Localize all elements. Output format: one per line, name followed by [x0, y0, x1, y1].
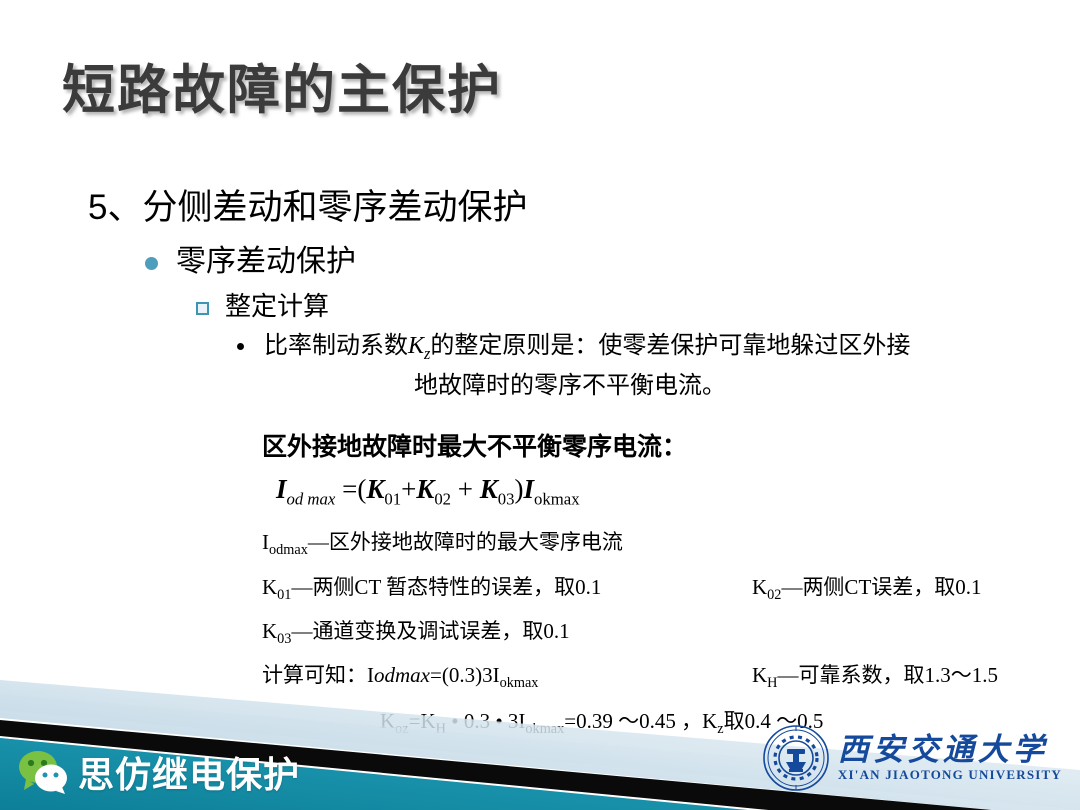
formula-k03: K03	[480, 474, 515, 504]
formula-k01: K01	[366, 474, 401, 504]
outline-level2: 零序差动保护	[145, 242, 1080, 282]
university-logo: 西安交通大学 XI'AN JIAOTONG UNIVERSITY	[762, 722, 1062, 794]
note-calc-right: KH—可靠系数，取1.3～1.5	[752, 663, 1052, 695]
note-iodmax: Iodmax—区外接地故障时的最大零序电流	[262, 530, 1052, 562]
bullet-square-icon	[196, 302, 209, 315]
math-heading: 区外接地故障时最大不平衡零序电流：	[262, 432, 1052, 464]
bullet-small-dot-icon	[237, 343, 244, 350]
university-seal-icon	[762, 724, 830, 792]
formula-equals: =	[342, 474, 357, 504]
note-row-k03: K03—通道变换及调试误差，取0.1	[262, 619, 1052, 651]
math-block: 区外接地故障时最大不平衡零序电流： Iod max =(K01+K02 + K0…	[262, 432, 1052, 741]
outline-level2-label: 零序差动保护	[176, 242, 1080, 282]
level4-prefix: 比率制动系数	[264, 333, 408, 359]
formula-plus2: +	[458, 474, 473, 504]
formula-k02: K02	[416, 474, 451, 504]
formula-close-paren: )	[515, 474, 524, 504]
formula-plus1: +	[401, 474, 416, 504]
watermark: 思仿继电保护	[18, 744, 300, 800]
university-names: 西安交通大学 XI'AN JIAOTONG UNIVERSITY	[838, 733, 1062, 783]
outline-level4-label: 比率制动系数Kz的整定原则是：使零差保护可靠地躲过区外接 地故障时的零序不平衡电…	[264, 330, 994, 403]
note-row-calc: 计算可知：Iodmax=(0.3)3Iokmax KH—可靠系数，取1.3～1.…	[262, 663, 1052, 695]
wechat-icon	[18, 750, 70, 794]
page-title: 短路故障的主保护	[62, 48, 502, 124]
university-name-cn: 西安交通大学	[838, 733, 1062, 767]
formula-rhs: Iokmax	[524, 474, 580, 504]
outline-level4: 比率制动系数Kz的整定原则是：使零差保护可靠地躲过区外接 地故障时的零序不平衡电…	[237, 330, 1080, 403]
level4-line1-rest: 的整定原则是：使零差保护可靠地躲过区外接	[430, 333, 910, 359]
note-calc-left: 计算可知：Iodmax=(0.3)3Iokmax	[262, 663, 752, 695]
outline-level1: 5、分侧差动和零序差动保护	[88, 186, 1080, 230]
note-k01: K01—两侧CT 暂态特性的误差，取0.1	[262, 575, 752, 607]
level4-variable: Kz	[408, 333, 430, 359]
slide-body: 5、分侧差动和零序差动保护 零序差动保护 整定计算 比率制动系数Kz的整定原则是…	[0, 186, 1080, 403]
formula-lhs: Iod max	[276, 474, 335, 504]
bullet-dot-icon	[145, 257, 158, 270]
outline-level1-label: 5、分侧差动和零序差动保护	[88, 186, 1080, 230]
note-k03: K03—通道变换及调试误差，取0.1	[262, 619, 752, 651]
outline-level3-label: 整定计算	[225, 290, 1080, 324]
outline-level3: 整定计算	[196, 290, 1080, 324]
main-formula: Iod max =(K01+K02 + K03)Iokmax	[262, 470, 1052, 518]
university-name-en: XI'AN JIAOTONG UNIVERSITY	[838, 767, 1062, 783]
note-row-k01-k02: K01—两侧CT 暂态特性的误差，取0.1 K02—两侧CT误差，取0.1	[262, 575, 1052, 607]
level4-line2: 地故障时的零序不平衡电流。	[264, 370, 994, 403]
formula-open-paren: (	[357, 474, 366, 504]
watermark-text: 思仿继电保护	[78, 746, 300, 798]
note-k02: K02—两侧CT误差，取0.1	[752, 575, 1052, 607]
